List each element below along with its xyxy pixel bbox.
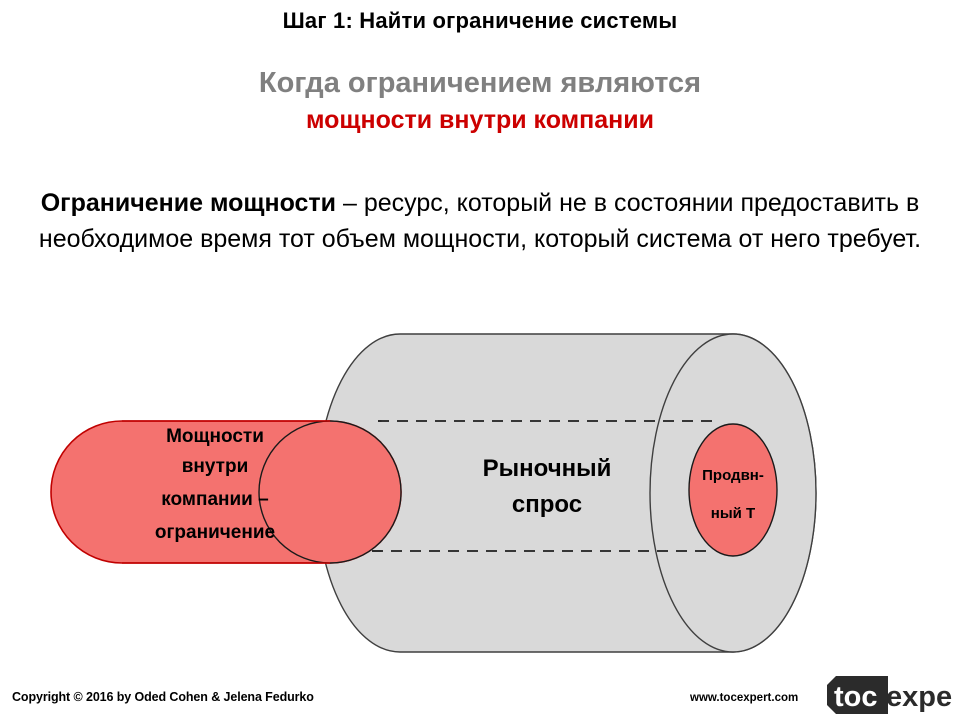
- page-title: Шаг 1: Найти ограничение системы: [0, 8, 960, 34]
- logo-text-expert: expert: [886, 681, 952, 713]
- market-label-line-2: спрос: [512, 491, 582, 518]
- capacity-label-line-4: ограничение: [155, 522, 275, 543]
- market-label-line-1: Рыночный: [483, 455, 612, 482]
- definition-paragraph: Ограничение мощности – ресурс, который н…: [20, 186, 940, 257]
- capacity-label-line-2: внутри: [182, 456, 249, 477]
- tocexpert-logo[interactable]: toc expert: [826, 675, 952, 715]
- capacity-label-line-3: компании –: [161, 489, 268, 510]
- subtitle-line-2: мощности внутри компании: [0, 105, 960, 135]
- promo-label-line-1: Продвн-: [702, 467, 764, 484]
- copyright-text: Copyright © 2016 by Oded Cohen & Jelena …: [12, 690, 314, 704]
- definition-term: Ограничение мощности: [41, 189, 336, 217]
- capsule-right-head: [259, 421, 401, 563]
- website-url[interactable]: www.tocexpert.com: [690, 692, 798, 704]
- promoted-t-ellipse: [689, 424, 777, 556]
- capacity-label-line-1: Мощности: [166, 426, 264, 447]
- subtitle-block: Когда ограничением являются мощности вну…: [0, 68, 960, 135]
- promo-label-line-2: ный Т: [711, 505, 755, 522]
- logo-text-toc: toc: [834, 681, 878, 713]
- subtitle-line-1: Когда ограничением являются: [0, 68, 960, 100]
- constraint-diagram: Мощности внутри компании – ограничение Р…: [0, 310, 960, 670]
